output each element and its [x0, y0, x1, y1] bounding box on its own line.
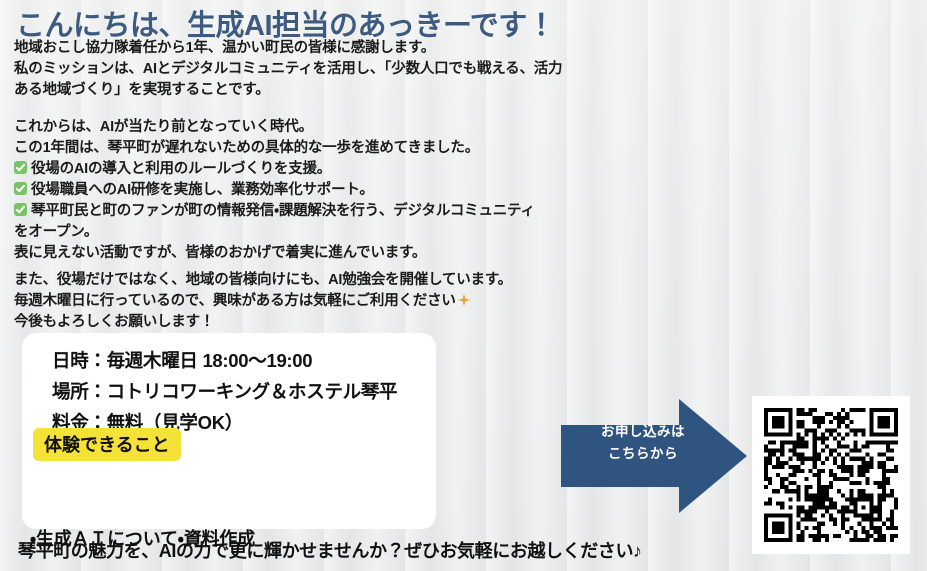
study-line-2: 毎週木曜日に行っているので、興味がある方は気軽にご利用ください	[14, 291, 614, 312]
mission-lead-2: この1年間は、琴平町が遅れないための具体的な一歩を進めてきました。	[14, 138, 614, 159]
apply-here-label: お申し込みは こちらから	[583, 421, 703, 465]
footer-message: 琴平町の魅力を、AIの力で更に輝かせませんか？ぜひお気軽にお越しください♪	[18, 537, 642, 563]
study-group-block: また、役場だけではなく、地域の皆様向けにも、AI勉強会を開催しています。 毎週木…	[14, 270, 614, 333]
study-line-1: また、役場だけではなく、地域の皆様向けにも、AI勉強会を開催しています。	[14, 270, 614, 291]
sparkle-icon	[457, 293, 471, 307]
intro-line-3: ある地域づくり」を実現することです。	[14, 80, 594, 101]
experience-heading: 体験できること	[33, 428, 181, 461]
mission-check-label-1: 役場のAIの導入と利用のルールづくりを支援。	[31, 161, 331, 177]
mission-check-label-2: 役場職員へのAI研修を実施し、業務効率化サポート。	[31, 182, 374, 198]
check-icon	[14, 203, 27, 216]
mission-check-label-3: 琴平町民と町のファンが町の情報発信・課題解決を行う、デジタルコミュニティ	[31, 203, 535, 219]
qr-code-canvas[interactable]	[764, 408, 898, 542]
event-detail-datetime: 日時：毎週木曜日 18:00〜19:00	[52, 345, 397, 376]
event-detail-list: 日時：毎週木曜日 18:00〜19:00 場所：コトリコワーキング＆ホステル琴平…	[52, 345, 397, 438]
mission-check-item-3: 琴平町民と町のファンが町の情報発信・課題解決を行う、デジタルコミュニティ	[14, 201, 614, 222]
mission-check-continuation: をオープン。	[14, 222, 614, 243]
intro-line-2: 私のミッションは、AIとデジタルコミュニティを活用し、「少数人口でも戦える、活力	[14, 59, 594, 80]
mission-block: これからは、AIが当たり前となっていく時代。 この1年間は、琴平町が遅れないため…	[14, 117, 614, 264]
mission-lead-1: これからは、AIが当たり前となっていく時代。	[14, 117, 614, 138]
apply-here-line-1: お申し込みは	[583, 421, 703, 443]
event-detail-place: 場所：コトリコワーキング＆ホステル琴平	[52, 376, 397, 407]
mission-check-item-2: 役場職員へのAI研修を実施し、業務効率化サポート。	[14, 180, 614, 201]
poster-canvas: こんにちは、生成AI担当のあっきーです！ 地域おこし協力隊着任から1年、温かい町…	[0, 0, 927, 571]
check-icon	[14, 182, 27, 195]
intro-line-1: 地域おこし協力隊着任から1年、温かい町民の皆様に感謝します。	[14, 38, 594, 59]
qr-code-icon[interactable]	[752, 396, 910, 554]
mission-check-item-1: 役場のAIの導入と利用のルールづくりを支援。	[14, 159, 614, 180]
intro-paragraph: 地域おこし協力隊着任から1年、温かい町民の皆様に感謝します。 私のミッションは、…	[14, 38, 594, 101]
apply-here-line-2: こちらから	[583, 443, 703, 465]
study-line-3: 今後もよろしくお願いします！	[14, 312, 614, 333]
study-line-2-text: 毎週木曜日に行っているので、興味がある方は気軽にご利用ください	[14, 293, 456, 309]
mission-closing: 表に見えない活動ですが、皆様のおかげで着実に進んでいます。	[14, 243, 614, 264]
check-icon	[14, 161, 27, 174]
